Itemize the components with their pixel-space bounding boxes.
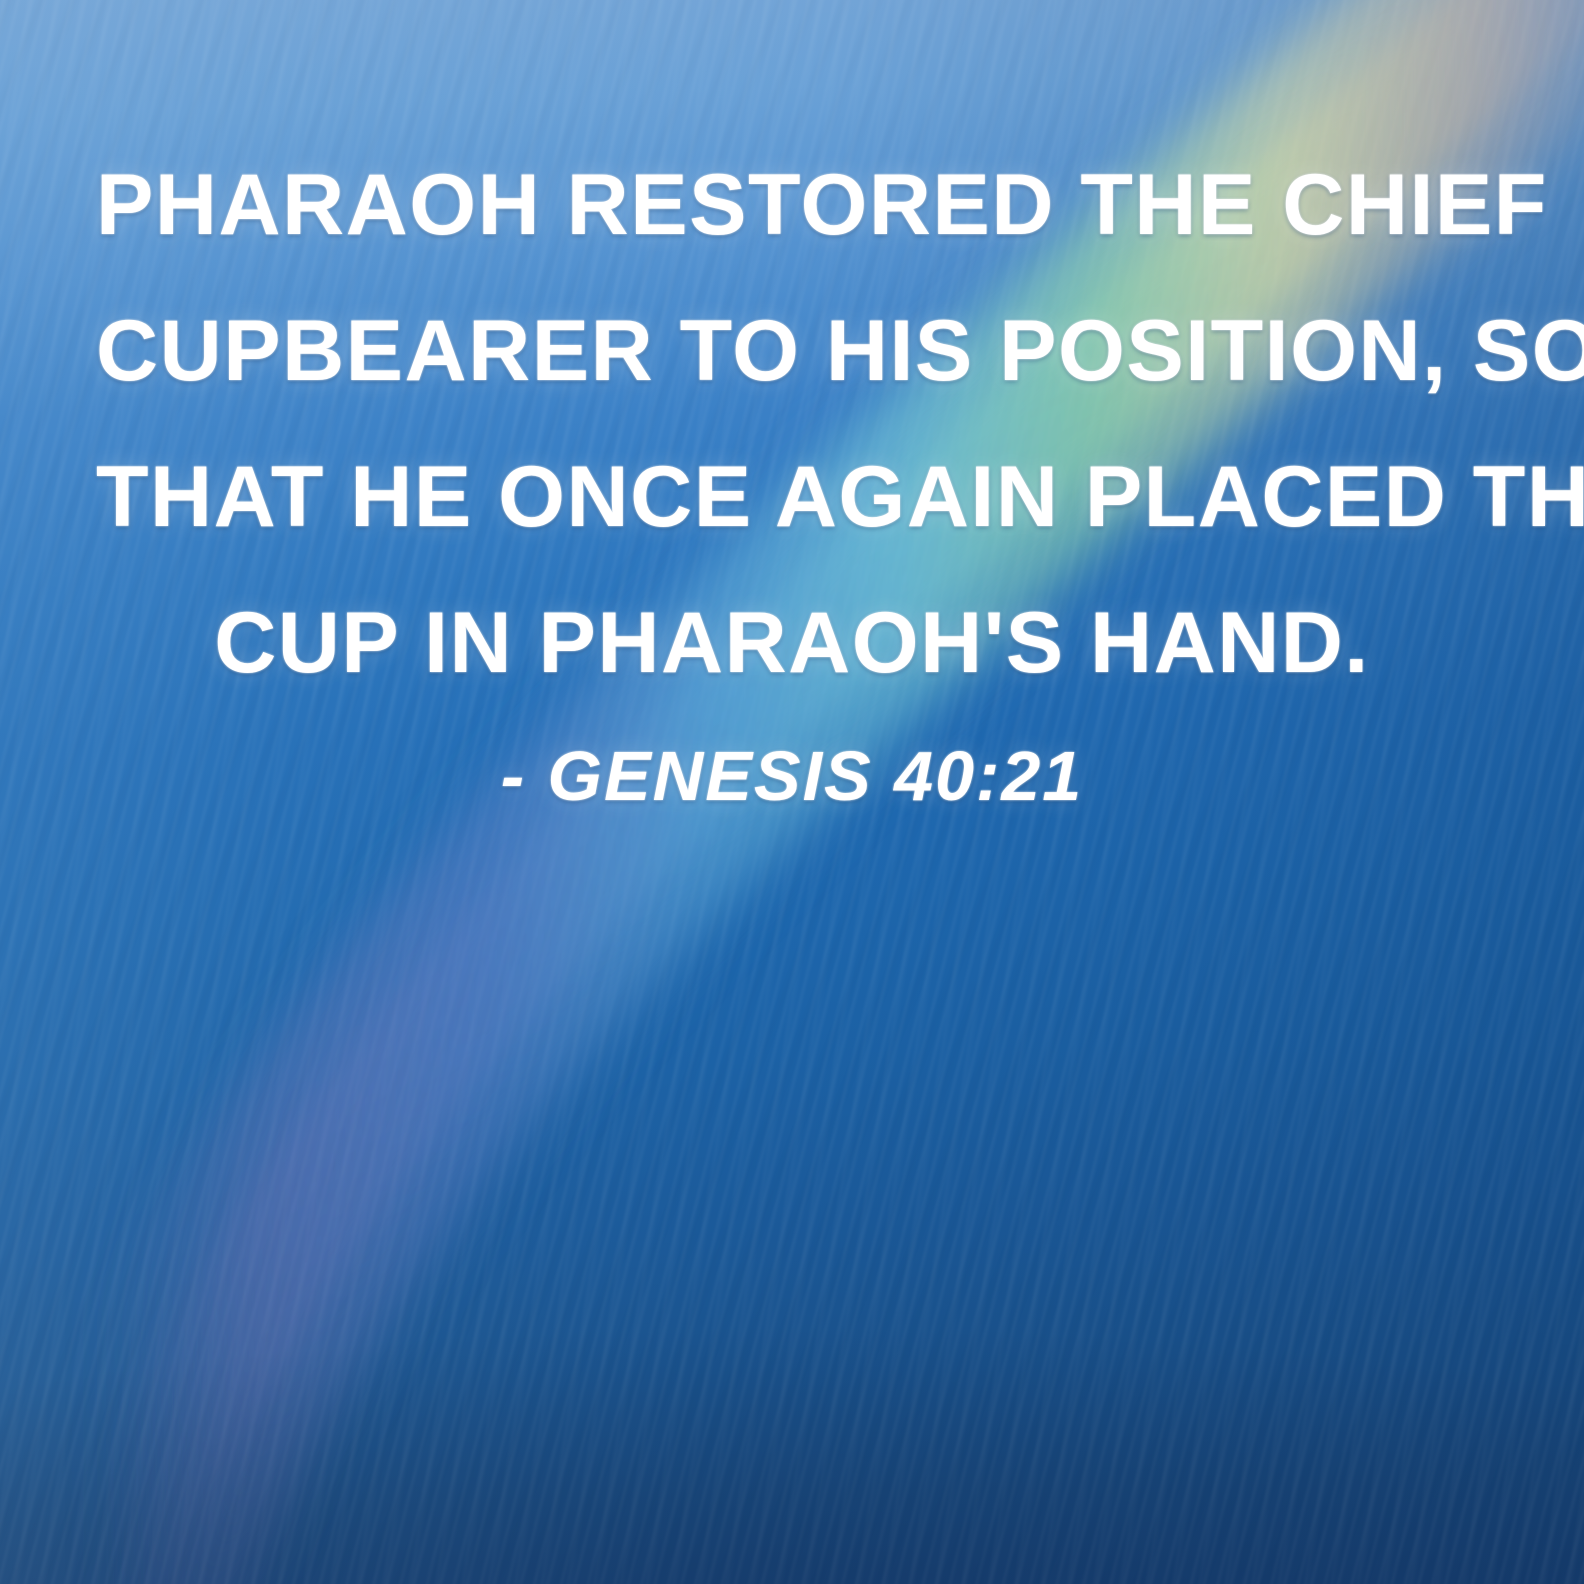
verse-line: that he once again placed the — [96, 424, 1488, 570]
verse-image-canvas: Pharaoh restored the chief cupbearer to … — [0, 0, 1584, 1584]
verse-citation: - Genesis 40:21 — [0, 728, 1584, 824]
verse-line: cupbearer to his position, so — [96, 278, 1488, 424]
verse-line: cup in Pharaoh's hand. — [96, 570, 1488, 716]
verse-line: Pharaoh restored the chief — [96, 132, 1488, 278]
verse-text-block: Pharaoh restored the chief cupbearer to … — [0, 132, 1584, 716]
